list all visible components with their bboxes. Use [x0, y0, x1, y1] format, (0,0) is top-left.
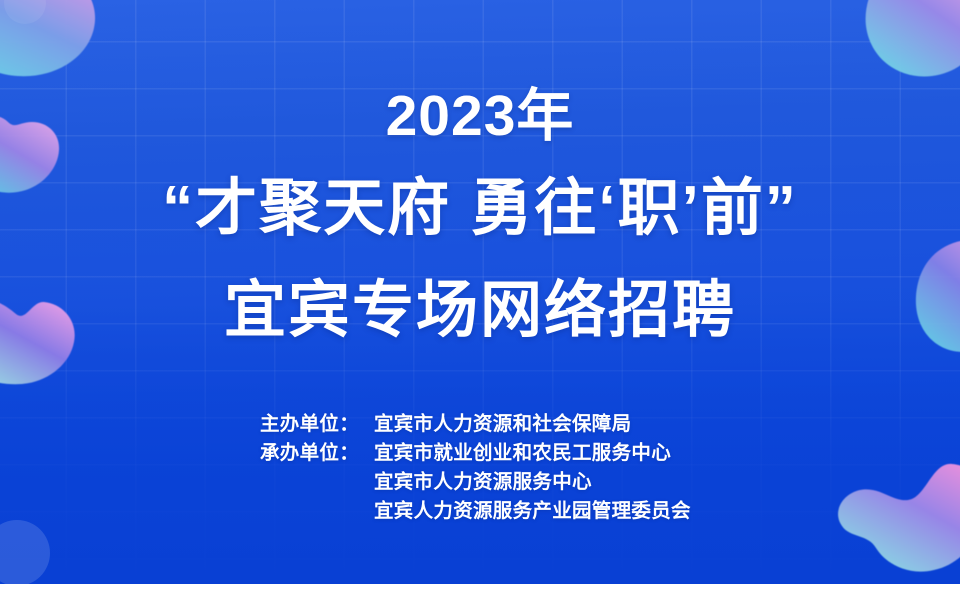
organizer-value: 宜宾人力资源服务产业园管理委员会 [374, 497, 700, 526]
organizer-row: 宜宾市人力资源服务中心 [260, 468, 700, 497]
poster-headline-event: 宜宾专场网络招聘 [0, 280, 960, 342]
organizer-label [260, 497, 374, 526]
poster-content: 2023年 “才聚天府 勇往‘职’前” 宜宾专场网络招聘 主办单位： 宜宾市人力… [0, 0, 960, 584]
organizer-row: 主办单位： 宜宾市人力资源和社会保障局 [260, 410, 700, 439]
organizer-row: 承办单位： 宜宾市就业创业和农民工服务中心 [260, 439, 700, 468]
organizer-value: 宜宾市就业创业和农民工服务中心 [374, 439, 700, 468]
recruitment-poster: 2023年 “才聚天府 勇往‘职’前” 宜宾专场网络招聘 主办单位： 宜宾市人力… [0, 0, 960, 600]
poster-background: 2023年 “才聚天府 勇往‘职’前” 宜宾专场网络招聘 主办单位： 宜宾市人力… [0, 0, 960, 584]
organizer-label: 承办单位： [260, 439, 374, 468]
organizer-row: 宜宾人力资源服务产业园管理委员会 [260, 497, 700, 526]
organizer-value: 宜宾市人力资源服务中心 [374, 468, 700, 497]
poster-headline-slogan: “才聚天府 勇往‘职’前” [0, 178, 960, 240]
organizer-label: 主办单位： [260, 410, 374, 439]
poster-year: 2023年 [0, 88, 960, 145]
bottom-white-strip [0, 584, 960, 600]
organizer-label [260, 468, 374, 497]
organizer-value: 宜宾市人力资源和社会保障局 [374, 410, 700, 439]
organizer-block: 主办单位： 宜宾市人力资源和社会保障局 承办单位： 宜宾市就业创业和农民工服务中… [0, 410, 960, 526]
